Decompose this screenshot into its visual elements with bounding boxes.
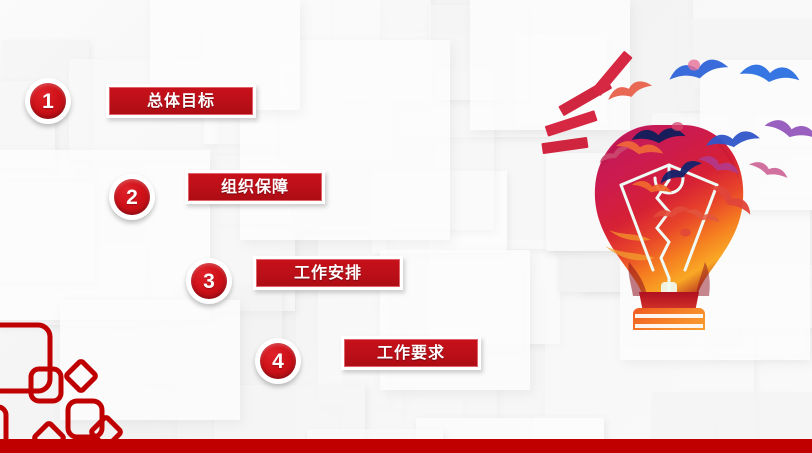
deco-rect-mid [68, 401, 102, 437]
deco-diamond-2 [33, 422, 64, 439]
deco-rect-edge [0, 407, 6, 439]
footer-accent-bar [0, 439, 812, 453]
deco-diamond-3 [90, 416, 121, 439]
deco-rect-large [0, 325, 50, 391]
corner-decoration [0, 309, 150, 439]
agenda-badge-2: 2 [109, 174, 155, 220]
agenda-label-bar-2[interactable]: 组织保障 [185, 170, 325, 204]
agenda-label-text: 工作要求 [377, 345, 445, 361]
agenda-badge-number: 4 [272, 351, 284, 372]
watercolor-lightbulb-artwork [505, 30, 812, 330]
agenda-badge-number: 3 [203, 271, 215, 292]
agenda-label-bar-4[interactable]: 工作要求 [341, 336, 481, 370]
agenda-badge-number: 2 [126, 187, 138, 208]
agenda-badge-number: 1 [42, 91, 54, 112]
agenda-label-text: 组织保障 [221, 179, 289, 195]
agenda-label-text: 总体目标 [147, 93, 215, 109]
deco-diamond-1 [65, 360, 96, 391]
agenda-label-bar-3[interactable]: 工作安排 [253, 256, 403, 290]
agenda-label-bar-1[interactable]: 总体目标 [106, 84, 256, 118]
agenda-badge-3: 3 [186, 258, 232, 304]
bulb-base [633, 308, 705, 330]
agenda-label-text: 工作安排 [294, 265, 362, 281]
agenda-badge-4: 4 [255, 338, 301, 384]
agenda-badge-1: 1 [25, 78, 71, 124]
slide-canvas: 1 总体目标 2 组织保障 3 工作安排 [0, 0, 812, 453]
